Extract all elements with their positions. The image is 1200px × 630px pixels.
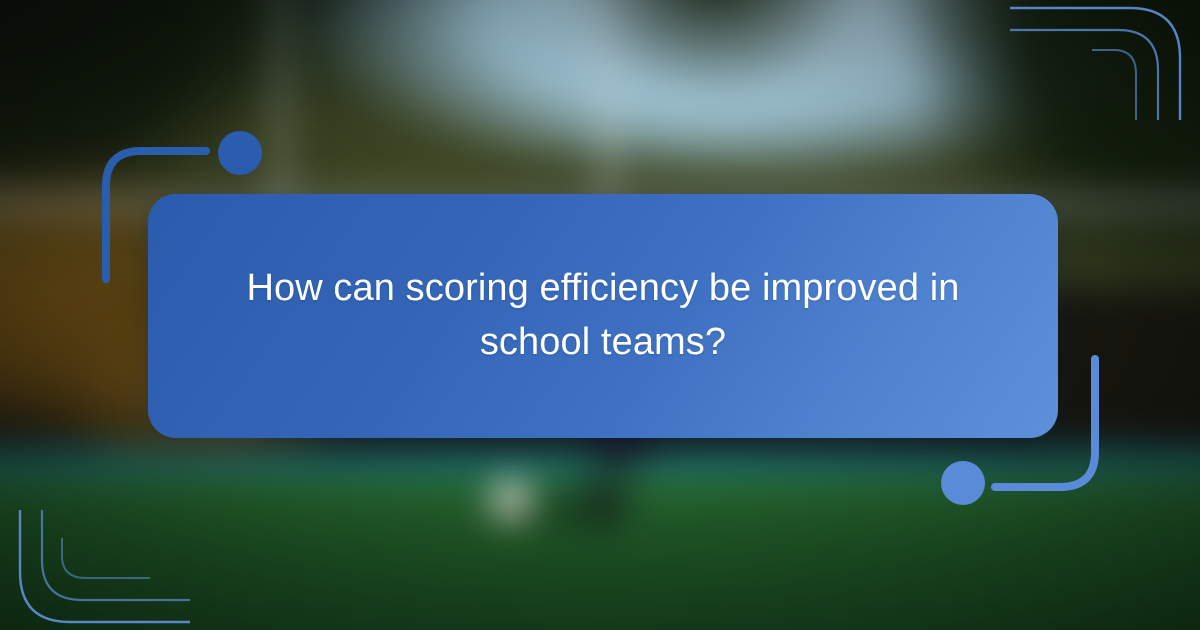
- quote-text: How can scoring efficiency be improved i…: [233, 262, 973, 370]
- quote-card-banner: How can scoring efficiency be improved i…: [0, 0, 1200, 630]
- dot-accent-bottom-right: [941, 461, 985, 505]
- corner-lines-top-right: [1010, 0, 1200, 120]
- dot-accent-top-left: [218, 131, 262, 175]
- bracket-accent-bottom-right: [985, 355, 1105, 500]
- quote-card: How can scoring efficiency be improved i…: [148, 194, 1058, 438]
- corner-lines-bottom-left: [0, 510, 190, 630]
